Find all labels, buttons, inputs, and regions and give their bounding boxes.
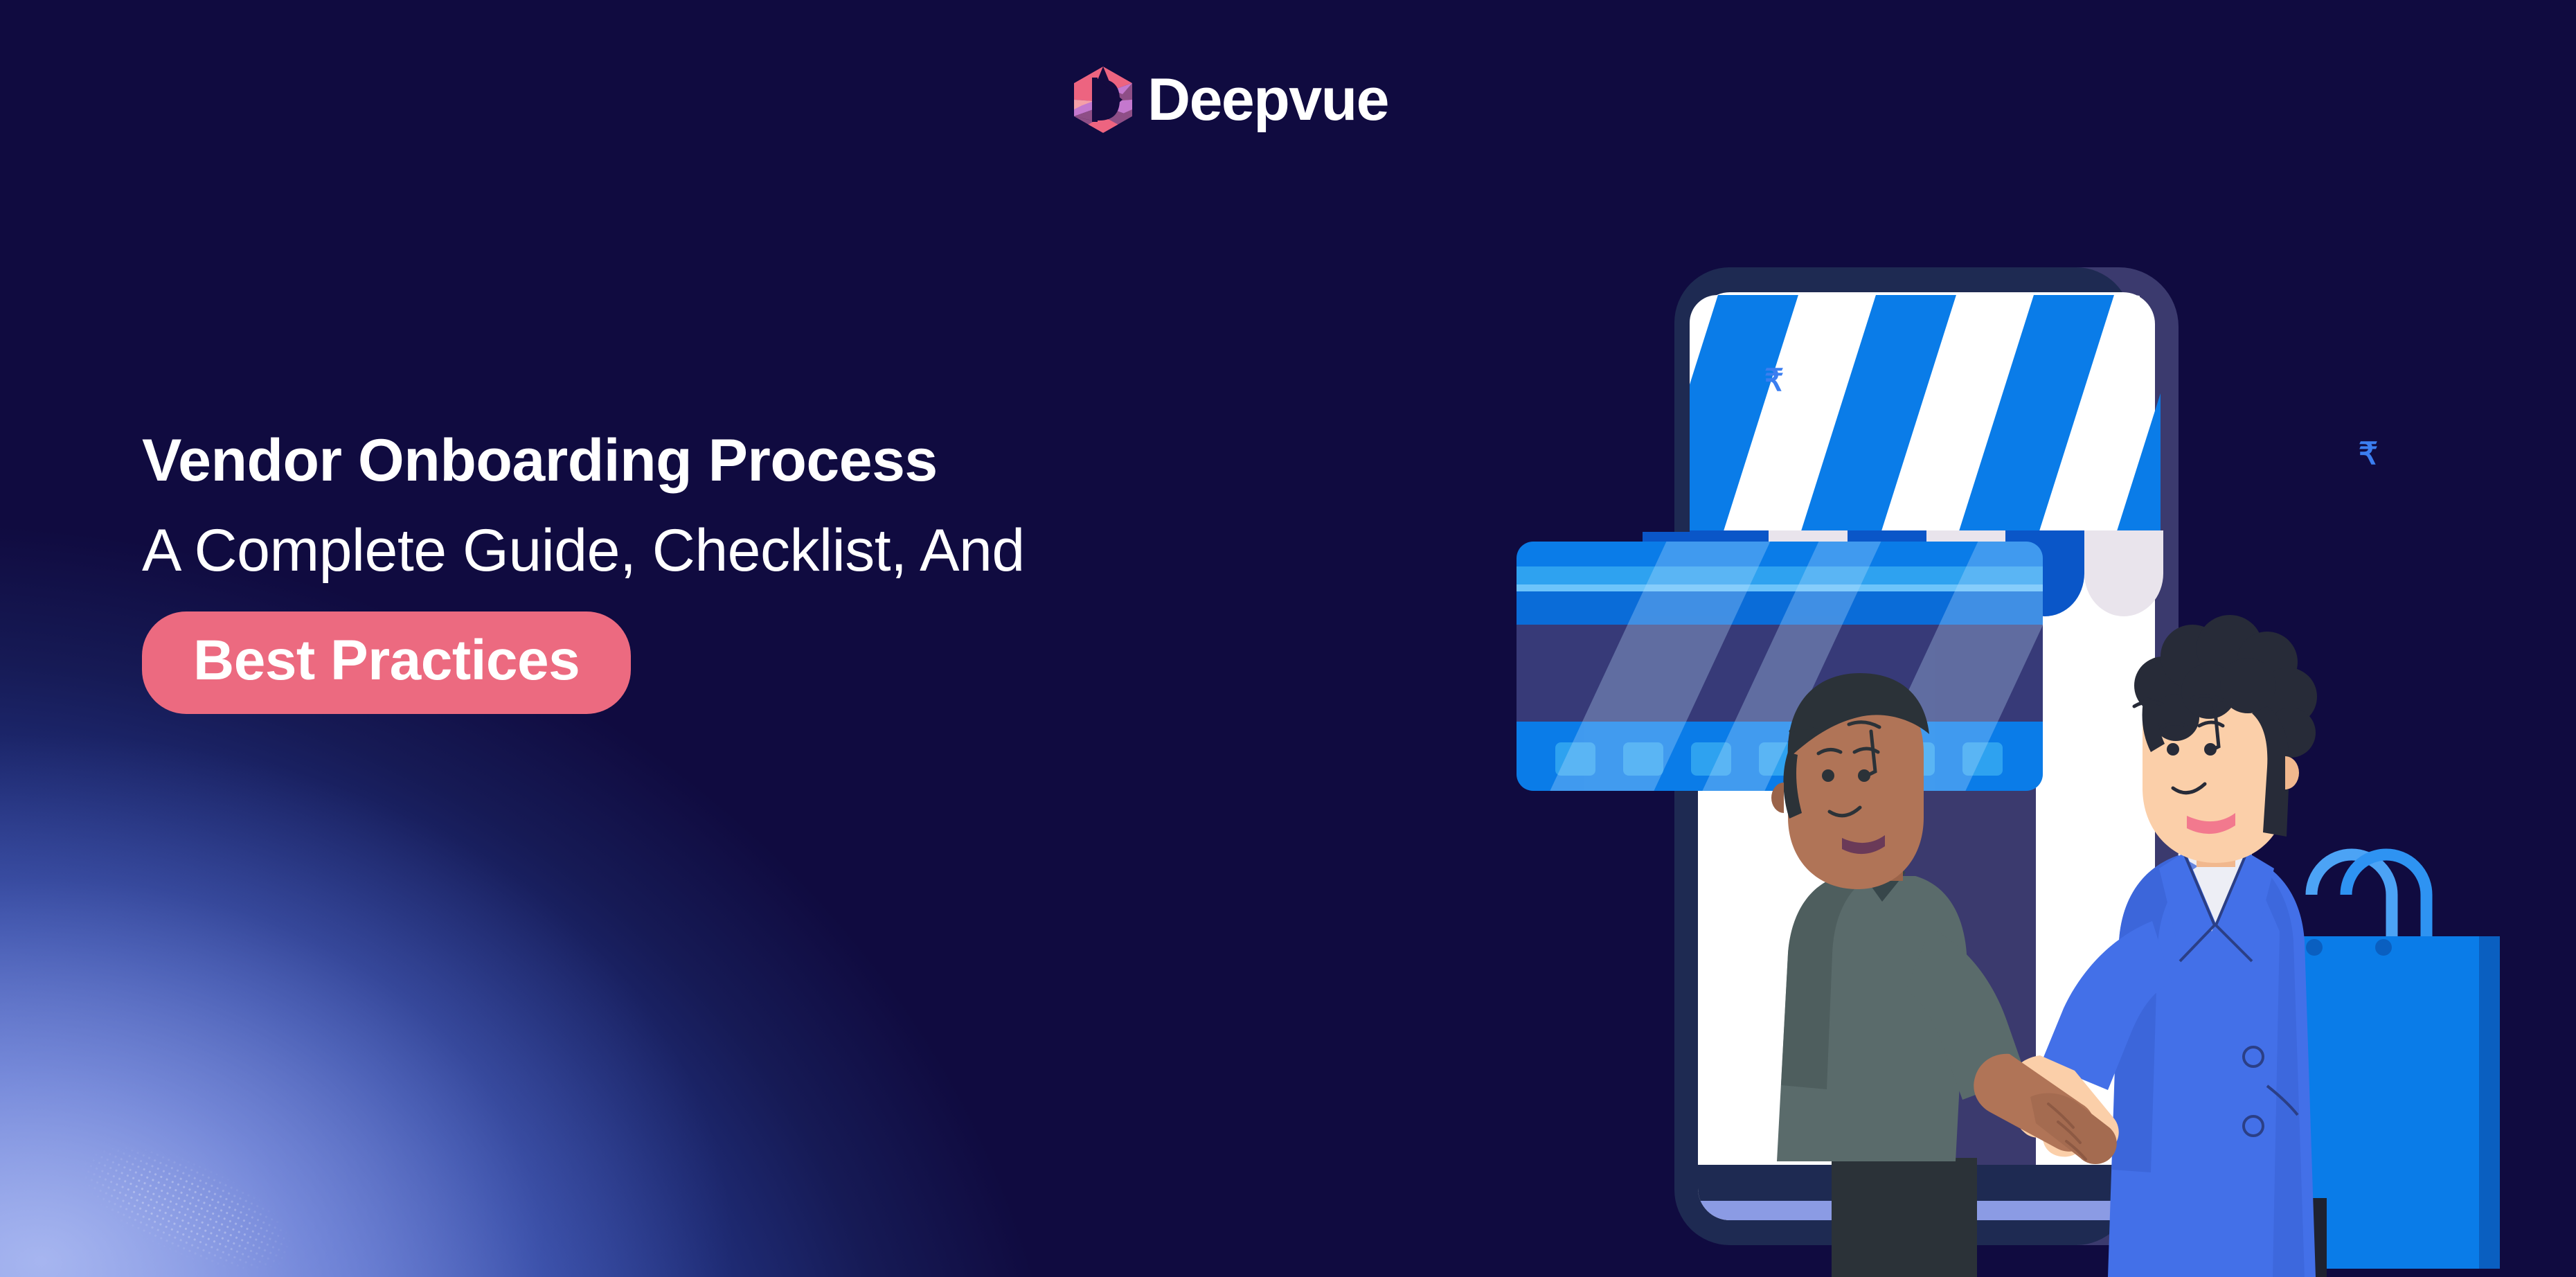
- brand-name: Deepvue: [1147, 70, 1388, 130]
- vendor-trousers: [1832, 1158, 1977, 1277]
- shopping-bag-side: [2479, 936, 2500, 1269]
- card-chip: [1557, 824, 1633, 949]
- rupee-symbol-icon-1: ₹: [1764, 366, 1784, 396]
- hero-banner: Deepvue Vendor Onboarding Process A Comp…: [0, 0, 2576, 1277]
- page-title-line2: A Complete Guide, Checklist, And: [142, 492, 1319, 582]
- best-practices-badge: Best Practices: [142, 611, 631, 714]
- page-title-line1: Vendor Onboarding Process: [142, 429, 1319, 492]
- vendor-handshake-storefront-illustration: [1517, 229, 2576, 1277]
- deepvue-hexagon-logo-icon: [1074, 66, 1132, 133]
- hero-copy: Vendor Onboarding Process A Complete Gui…: [142, 429, 1319, 714]
- rupee-symbol-icon-2: ₹: [2359, 439, 2378, 470]
- brand-logo[interactable]: Deepvue: [1074, 66, 1388, 133]
